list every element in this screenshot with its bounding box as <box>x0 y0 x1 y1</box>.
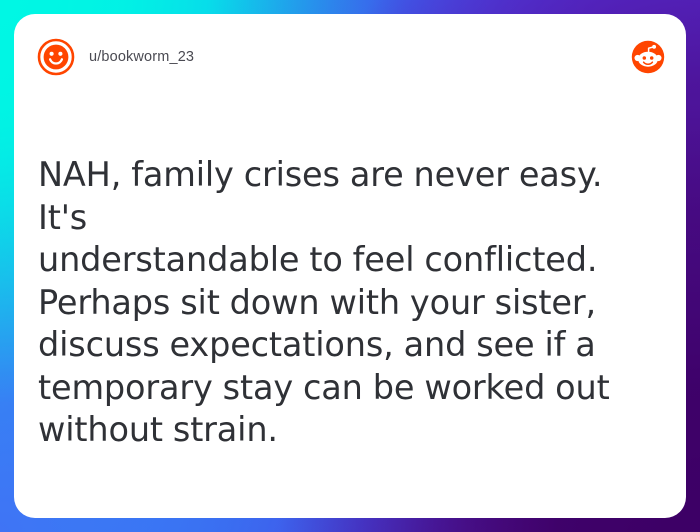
comment-line: Perhaps sit down with your sister, <box>38 282 652 325</box>
comment-line: understandable to feel conflicted. <box>38 239 652 282</box>
reddit-snoo-icon <box>631 40 665 74</box>
screenshot-stage: u/bookworm_23 <box>0 0 700 532</box>
smiley-face-icon <box>37 38 75 76</box>
comment-body-text: NAH, family crises are never easy. It's … <box>38 154 652 452</box>
comment-line: without strain. <box>38 409 652 452</box>
reddit-comment-card: u/bookworm_23 <box>14 14 686 518</box>
comment-line: NAH, family crises are never easy. It's <box>38 154 652 239</box>
comment-line: temporary stay can be worked out <box>38 367 652 410</box>
username-label: u/bookworm_23 <box>89 49 194 65</box>
card-header: u/bookworm_23 <box>14 14 686 100</box>
comment-line: discuss expectations, and see if a <box>38 324 652 367</box>
